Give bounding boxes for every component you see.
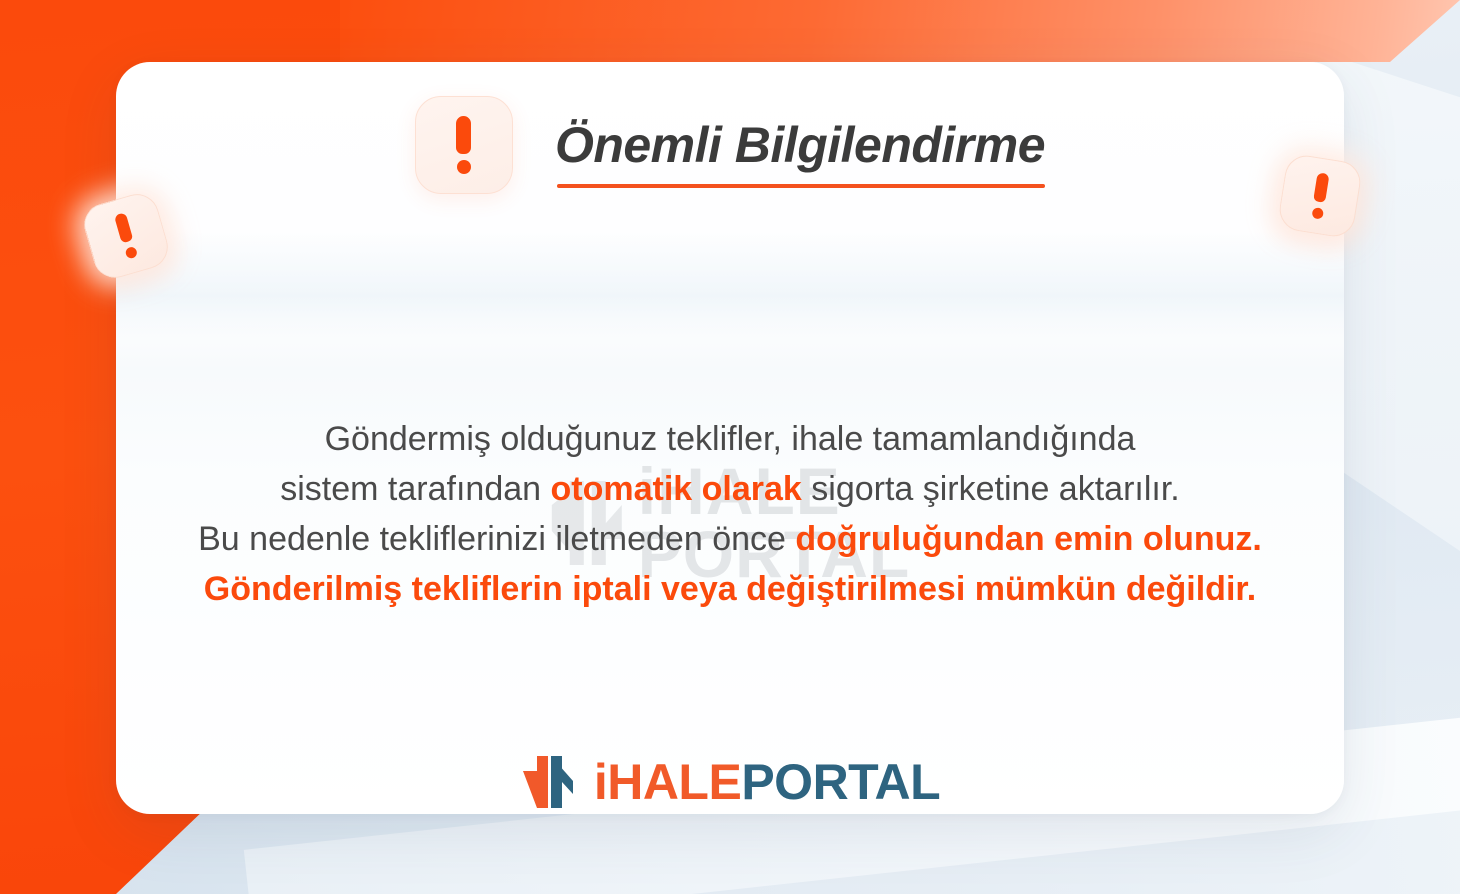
floating-exclamation-icon-right — [1277, 153, 1364, 240]
exclamation-icon — [415, 96, 513, 194]
notice-banner: Önemli Bilgilendirme iHALE PORTAL — [0, 0, 1460, 894]
exclamation-glyph — [1310, 172, 1329, 219]
notice-header: Önemli Bilgilendirme — [116, 96, 1344, 194]
ihale-portal-logo: iHALEPORTAL — [116, 754, 1344, 810]
notice-body-line-2: sistem tarafından otomatik olarak sigort… — [176, 464, 1284, 514]
page-title: Önemli Bilgilendirme — [555, 120, 1045, 170]
notice-body-line-3: Bu nedenle tekliflerinizi iletmeden önce… — [176, 514, 1284, 564]
exclamation-dot — [1311, 207, 1324, 220]
title-underline — [557, 184, 1045, 188]
notice-body-line-1: Göndermiş olduğunuz teklifler, ihale tam… — [176, 414, 1284, 464]
ihale-portal-arrows-icon — [520, 754, 576, 810]
line2-highlight: otomatik olarak — [551, 470, 802, 508]
line4-highlight: Gönderilmiş tekliflerin iptali veya deği… — [204, 570, 1256, 608]
notice-card: Önemli Bilgilendirme iHALE PORTAL — [116, 62, 1344, 814]
logo-word-portal: PORTAL — [741, 754, 940, 810]
exclamation-stem — [456, 116, 471, 154]
page-title-wrap: Önemli Bilgilendirme — [555, 120, 1045, 170]
line3-highlight: doğruluğundan emin olunuz. — [795, 520, 1262, 558]
card-sheen — [116, 230, 1344, 340]
exclamation-stem — [114, 212, 134, 243]
exclamation-dot — [457, 160, 471, 174]
line1-before: Göndermiş olduğunuz teklifler, ihale tam… — [325, 420, 1136, 458]
line2-before: sistem tarafından — [280, 470, 550, 508]
line2-after: sigorta şirketine aktarılır. — [802, 470, 1180, 508]
exclamation-dot — [124, 246, 138, 260]
exclamation-glyph — [456, 116, 471, 174]
exclamation-stem — [1313, 172, 1329, 203]
exclamation-glyph — [114, 212, 138, 260]
line3-before: Bu nedenle tekliflerinizi iletmeden önce — [198, 520, 795, 558]
notice-body-line-4: Gönderilmiş tekliflerin iptali veya deği… — [176, 564, 1284, 614]
logo-wordmark: iHALEPORTAL — [594, 757, 940, 807]
notice-body: Göndermiş olduğunuz teklifler, ihale tam… — [116, 414, 1344, 614]
logo-word-ihale: iHALE — [594, 754, 742, 810]
